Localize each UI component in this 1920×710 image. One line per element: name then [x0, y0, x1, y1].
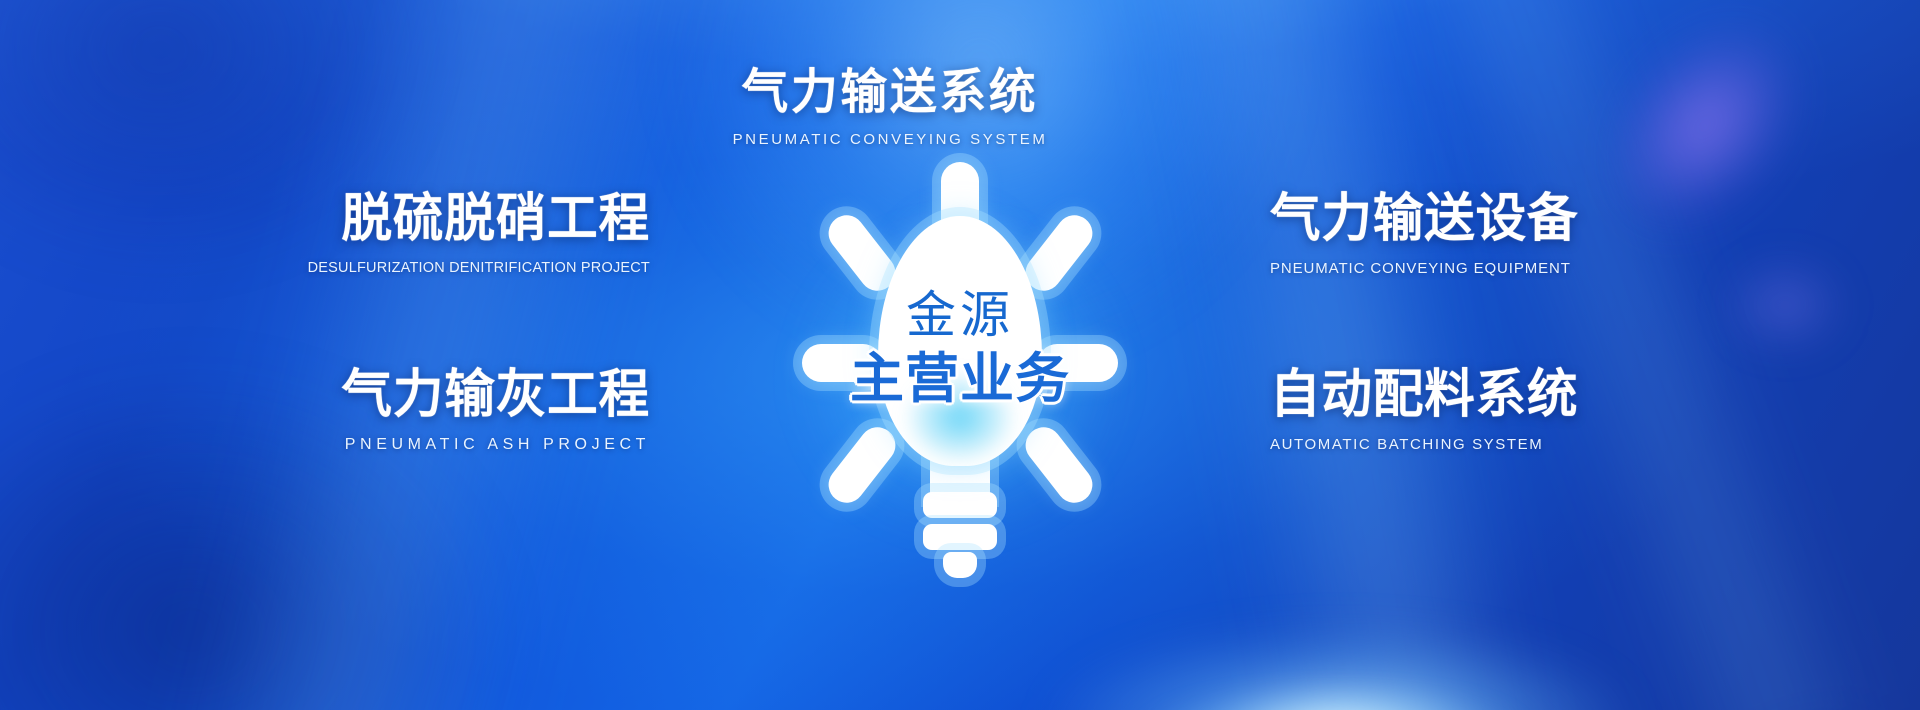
- bulb-screw-band-1: [923, 492, 997, 518]
- service-label-cn: 自动配料系统: [1270, 368, 1658, 423]
- bulb-screw-tip: [943, 552, 977, 578]
- service-label-automatic-batching-system[interactable]: 自动配料系统 AUTOMATIC BATCHING SYSTEM: [1270, 368, 1670, 453]
- service-label-desulfurization-denitrification-project[interactable]: 脱硫脱硝工程 DESULFURIZATION DENITRIFICATION P…: [260, 192, 650, 276]
- service-label-en: PNEUMATIC ASH PROJECT: [260, 436, 650, 454]
- service-label-cn: 气力输灰工程: [272, 368, 650, 423]
- service-label-cn: 脱硫脱硝工程: [272, 192, 650, 247]
- bulb-ray-east: [1038, 344, 1118, 382]
- bulb-ray-southeast: [1018, 420, 1099, 510]
- service-label-en: DESULFURIZATION DENITRIFICATION PROJECT: [260, 260, 650, 276]
- service-label-pneumatic-conveying-system[interactable]: 气力输送系统 PNEUMATIC CONVEYING SYSTEM: [680, 68, 1100, 148]
- service-label-en: PNEUMATIC CONVEYING EQUIPMENT: [1270, 260, 1670, 277]
- service-label-cn: 气力输送系统: [686, 68, 1093, 118]
- bulb-screw-band-2: [923, 524, 997, 550]
- service-label-en: AUTOMATIC BATCHING SYSTEM: [1270, 436, 1670, 453]
- main-business-banner: 金源 主营业务 气力输送系统 PNEUMATIC CONVEYING SYSTE…: [0, 0, 1920, 710]
- service-label-pneumatic-ash-project[interactable]: 气力输灰工程 PNEUMATIC ASH PROJECT: [260, 368, 650, 454]
- service-label-pneumatic-conveying-equipment[interactable]: 气力输送设备 PNEUMATIC CONVEYING EQUIPMENT: [1270, 192, 1670, 277]
- service-label-en: PNEUMATIC CONVEYING SYSTEM: [680, 131, 1100, 148]
- bulb-filament-glow: [888, 358, 1032, 478]
- lightbulb-icon: 金源 主营业务: [810, 158, 1110, 628]
- service-label-cn: 气力输送设备: [1270, 192, 1658, 247]
- bulb-ray-west: [802, 344, 882, 382]
- bottom-cyan-glow-core: [1100, 650, 1620, 710]
